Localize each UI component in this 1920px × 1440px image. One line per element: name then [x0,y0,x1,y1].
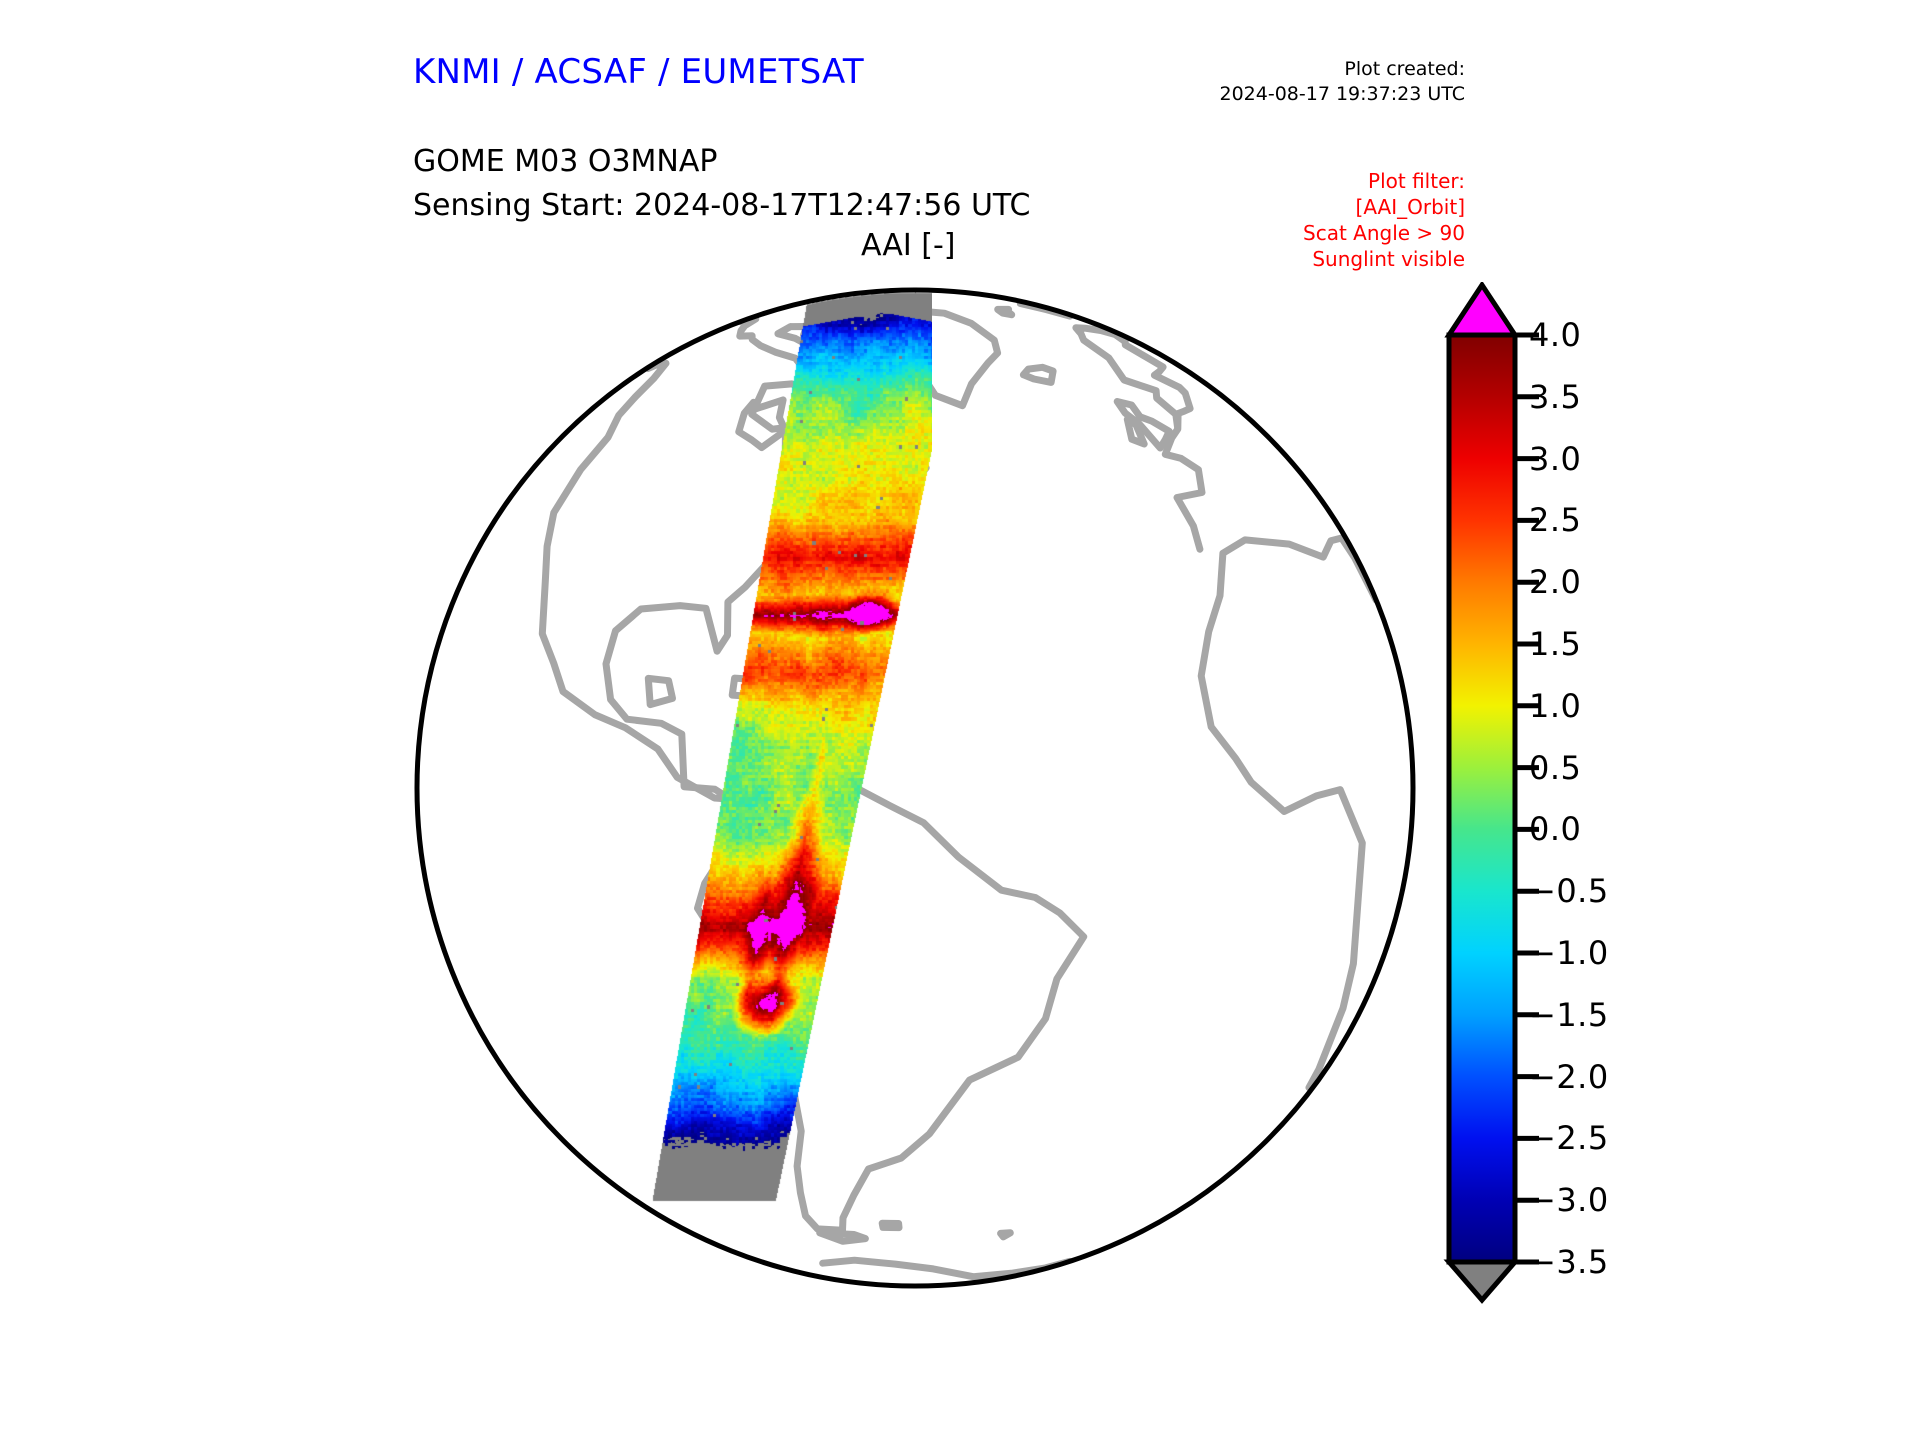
colorbar-tick-label: 1.0 [1529,687,1581,725]
colorbar-tick-label: 4.0 [1529,316,1581,354]
organisation-title: KNMI / ACSAF / EUMETSAT [413,52,864,92]
colorbar-tick-label: 1.5 [1529,625,1581,663]
quantity-label: AAI [-] [861,228,956,263]
colorbar-tick-label: −3.0 [1529,1181,1609,1219]
colorbar-tick-label: 3.5 [1529,378,1581,416]
product-title-block: GOME M03 O3MNAP Sensing Start: 2024-08-1… [413,140,1030,228]
instrument-title: GOME M03 O3MNAP [413,144,717,179]
swath-raster [412,285,932,1291]
colorbar-tick-label: −2.5 [1529,1119,1609,1157]
coastline-path [998,309,1012,314]
colorbar-under-arrow [1449,1262,1515,1300]
colorbar-tick-label: 0.0 [1529,810,1581,848]
colorbar-tick-label: 2.5 [1529,501,1581,539]
colorbar-tick-label: −2.0 [1529,1058,1609,1096]
colorbar-tick-label: −0.5 [1529,872,1609,910]
filter-line-0: Plot filter: [1368,169,1465,193]
colorbar-tick-label: −1.5 [1529,996,1609,1034]
colorbar-over-arrow [1449,285,1515,335]
plot-filter-block: Plot filter: [AAI_Orbit] Scat Angle > 90… [1303,168,1465,272]
data-swath [412,285,932,1291]
colorbar-tick-label: −3.5 [1529,1243,1609,1281]
colorbar-tick-label: 0.5 [1529,749,1581,787]
globe-canvas [412,285,1418,1291]
coastline-path [1001,1233,1011,1237]
colorbar-tick-label: 2.0 [1529,563,1581,601]
plot-created-value: 2024-08-17 19:37:23 UTC [1220,83,1466,105]
plot-created-label: Plot created: [1344,58,1465,80]
colorbar-gradient [1449,335,1515,1262]
globe-map [412,285,1418,1291]
colorbar: 4.03.53.02.52.01.51.00.50.0−0.5−1.0−1.5−… [1437,282,1857,1304]
plot-created-block: Plot created: 2024-08-17 19:37:23 UTC [1220,57,1466,107]
filter-line-3: Sunglint visible [1312,247,1465,271]
filter-line-1: [AAI_Orbit] [1356,195,1465,219]
filter-line-2: Scat Angle > 90 [1303,221,1465,245]
sensing-start: Sensing Start: 2024-08-17T12:47:56 UTC [413,188,1030,223]
colorbar-tick-label: −1.0 [1529,934,1609,972]
colorbar-tick-label: 3.0 [1529,440,1581,478]
